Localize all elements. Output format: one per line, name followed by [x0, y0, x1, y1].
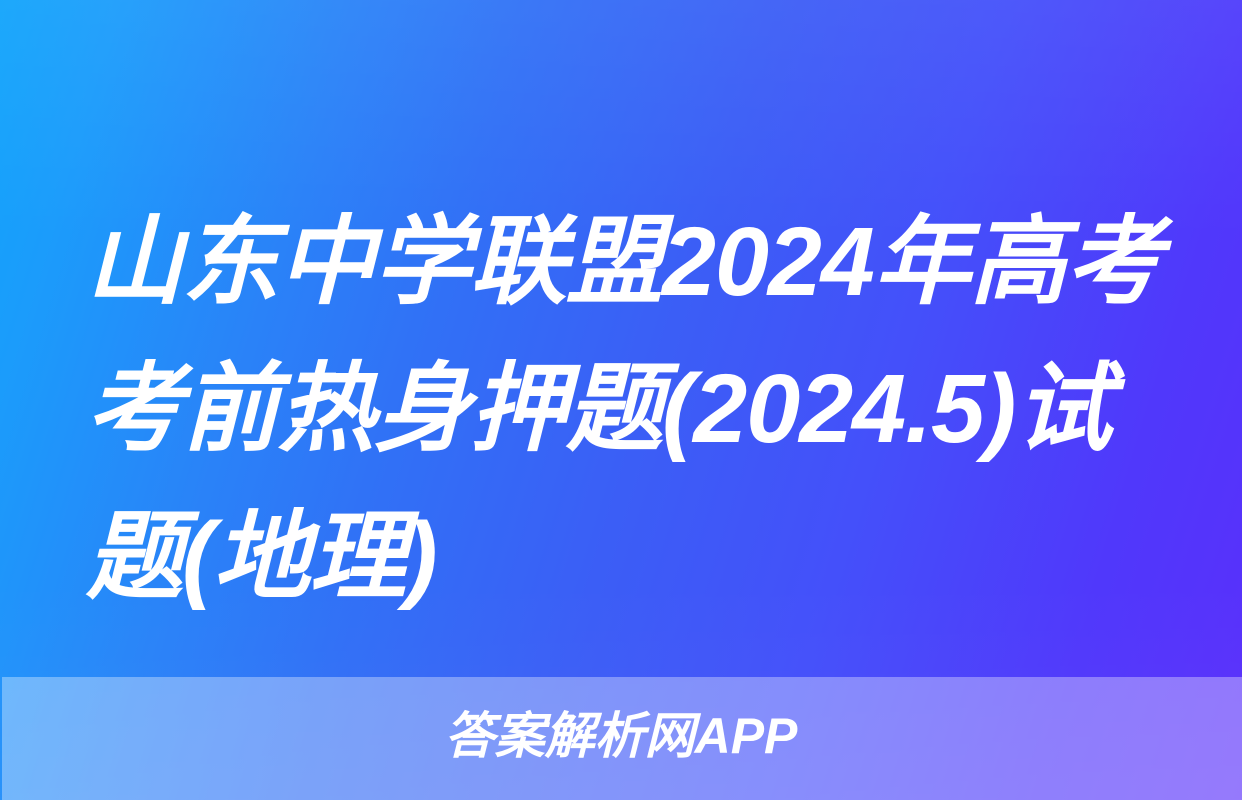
poster-title: 山东中学联盟2024年高考考前热身押题(2024.5)试题(地理) — [86, 188, 1178, 630]
watermark-block: 答案解析网APP — [0, 694, 1242, 778]
title-block: 山东中学联盟2024年高考考前热身押题(2024.5)试题(地理) — [86, 188, 1178, 630]
poster-card: 山东中学联盟2024年高考考前热身押题(2024.5)试题(地理) 答案解析网A… — [0, 0, 1242, 800]
app-watermark-label: 答案解析网APP — [445, 711, 798, 761]
